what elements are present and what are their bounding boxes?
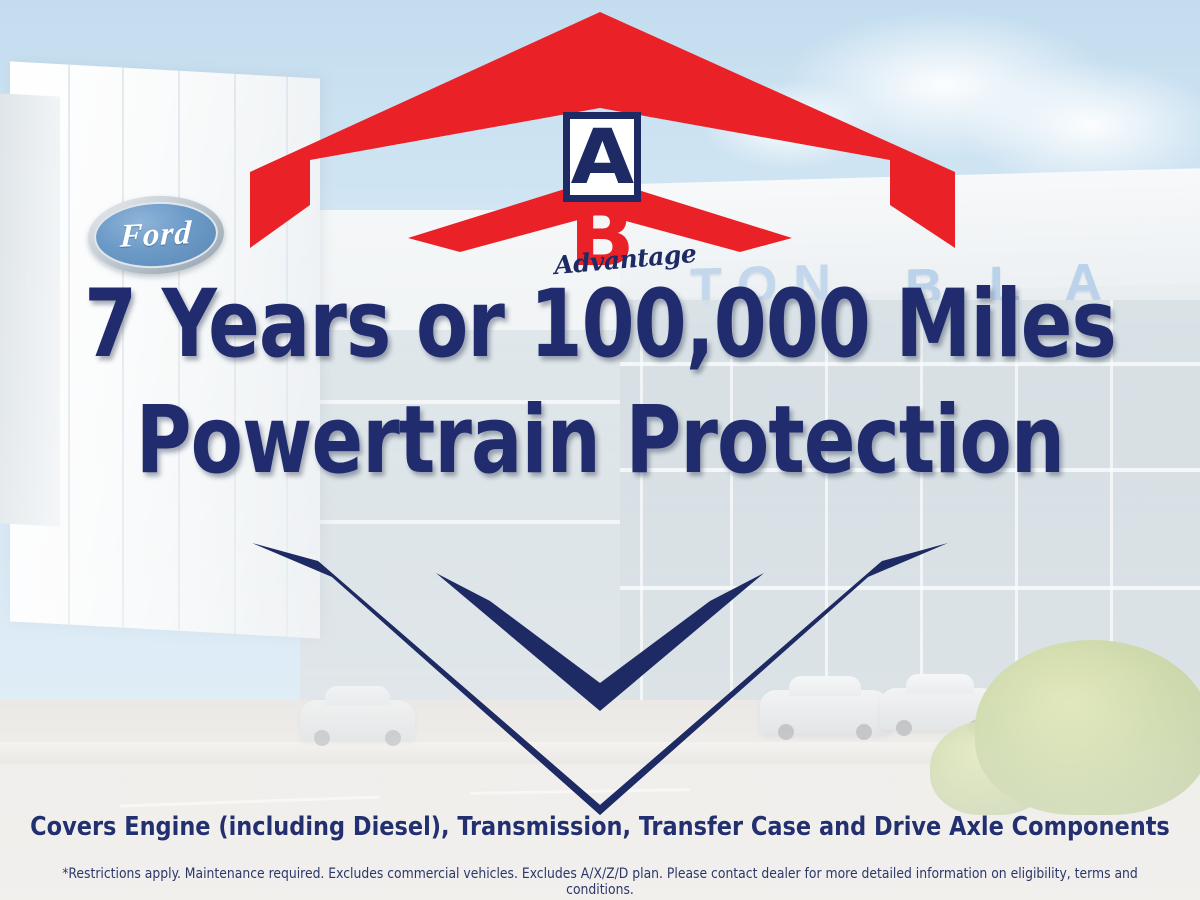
- headline-line-2: Powertrain Protection: [60, 394, 1140, 488]
- navy-chevron-graphic: [240, 515, 960, 825]
- logo-letter-a-box: A: [563, 112, 641, 202]
- promotional-banner: TON B L A: [0, 0, 1200, 900]
- logo-letter-a: A: [570, 124, 634, 189]
- disclaimer-text: *Restrictions apply. Maintenance require…: [30, 866, 1170, 898]
- headline: 7 Years or 100,000 Miles Powertrain Prot…: [0, 278, 1200, 488]
- headline-line-1: 7 Years or 100,000 Miles: [60, 278, 1140, 372]
- coverage-text: Covers Engine (including Diesel), Transm…: [24, 812, 1176, 842]
- ab-advantage-logo: A B Advantage: [554, 112, 650, 287]
